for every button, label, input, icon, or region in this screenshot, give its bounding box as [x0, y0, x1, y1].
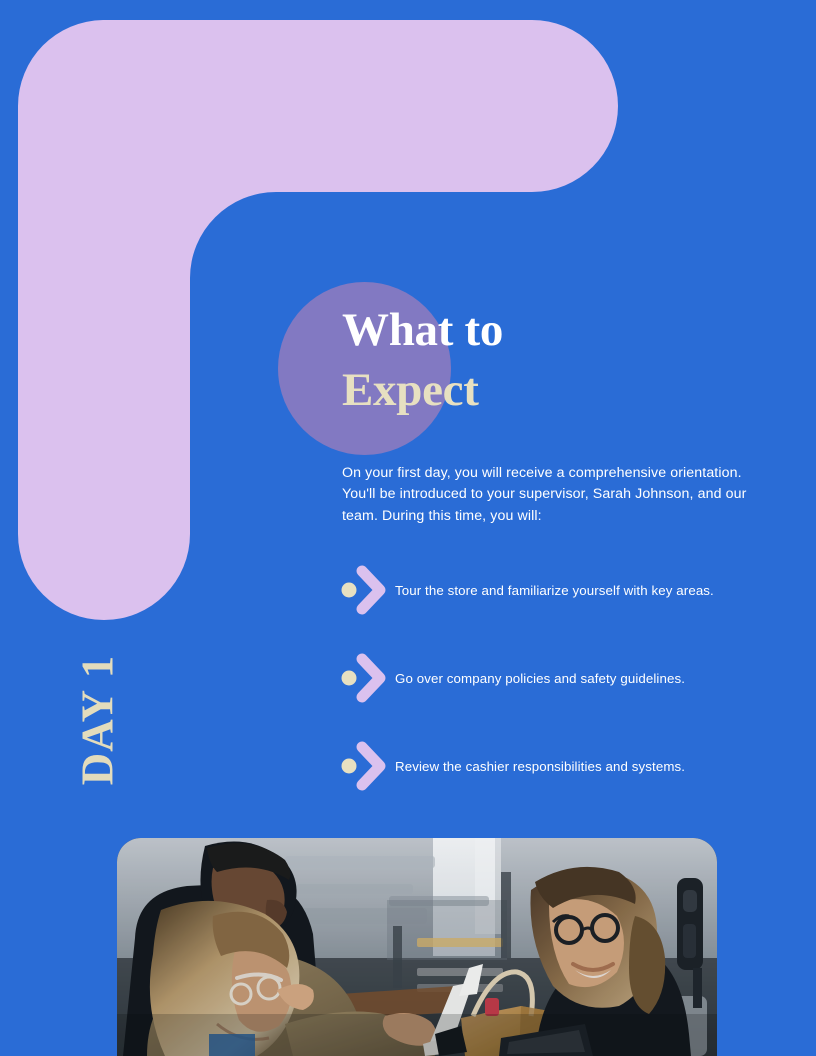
- retail-checkout-team-photo: [117, 838, 717, 1056]
- chevron-right-icon: [340, 564, 392, 616]
- list-item: Review the cashier responsibilities and …: [340, 738, 770, 826]
- chevron-right-icon: [340, 740, 392, 792]
- list-item: Tour the store and familiarize yourself …: [340, 562, 770, 650]
- intro-paragraph: On your first day, you will receive a co…: [342, 463, 762, 527]
- list-item: Go over company policies and safety guid…: [340, 650, 770, 738]
- page-title-line-1: What to: [342, 300, 762, 360]
- page-title-line-2: Expect: [342, 360, 762, 420]
- list-item-label: Go over company policies and safety guid…: [395, 670, 767, 688]
- page-canvas: What to Expect On your first day, you wi…: [0, 0, 816, 1056]
- list-item-label: Tour the store and familiarize yourself …: [395, 582, 767, 600]
- chevron-right-icon: [340, 652, 392, 704]
- page-title: What to Expect: [342, 300, 762, 420]
- day-label: DAY 1: [76, 655, 121, 785]
- expectations-list: Tour the store and familiarize yourself …: [340, 562, 770, 826]
- list-item-label: Review the cashier responsibilities and …: [395, 758, 767, 776]
